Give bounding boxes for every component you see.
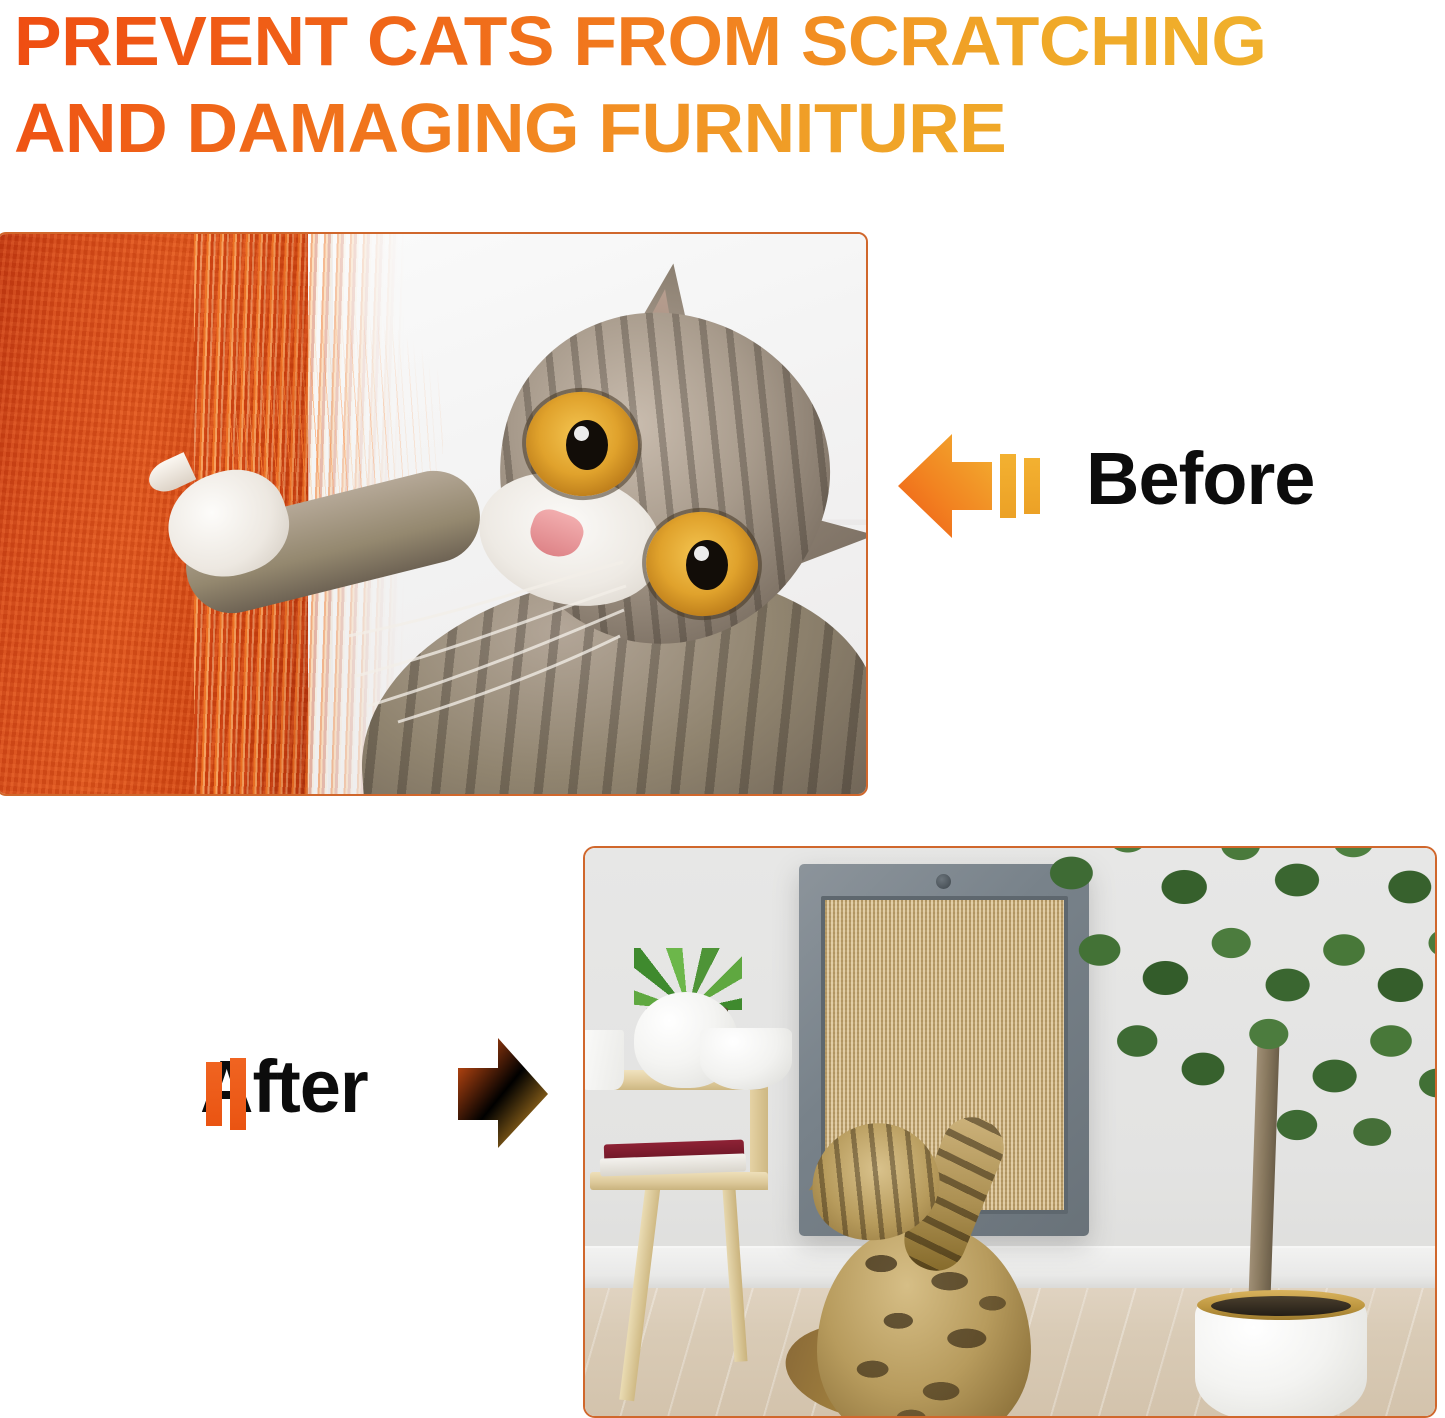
headline-block: PREVENT CATS FROM SCRATCHING AND DAMAGIN… bbox=[0, 0, 1445, 175]
before-photo-inner bbox=[0, 234, 866, 794]
side-table bbox=[590, 1070, 780, 1400]
after-photo bbox=[583, 846, 1437, 1418]
ficus-tree-canopy bbox=[1015, 848, 1435, 1160]
before-callout: Before bbox=[896, 432, 1316, 540]
before-label: Before bbox=[1086, 442, 1314, 516]
cat-eye-glint-lower bbox=[694, 546, 709, 561]
before-photo bbox=[0, 232, 868, 796]
scratching-pad-mount-screw bbox=[936, 874, 951, 889]
after-arrow-icon bbox=[410, 1034, 550, 1152]
after-callout: After bbox=[200, 1036, 560, 1154]
after-label: After bbox=[200, 1050, 368, 1124]
cat-eye-glint-upper bbox=[574, 426, 589, 441]
tabby-cat bbox=[298, 244, 866, 794]
ficus-tree bbox=[1075, 848, 1435, 1416]
after-photo-inner bbox=[585, 848, 1435, 1416]
headline-line-1: PREVENT CATS FROM SCRATCHING bbox=[14, 6, 1266, 76]
ficus-tree-pot-soil bbox=[1211, 1296, 1351, 1316]
white-bowl bbox=[700, 1028, 792, 1090]
side-table-leg-back bbox=[722, 1182, 748, 1362]
before-motion-bar-2 bbox=[1024, 458, 1040, 514]
before-motion-bar-1 bbox=[1000, 454, 1016, 518]
side-table-leg-front bbox=[619, 1181, 661, 1401]
after-motion-bar-2 bbox=[230, 1058, 246, 1130]
cat-whiskers bbox=[338, 544, 628, 724]
headline-line-2: AND DAMAGING FURNITURE bbox=[14, 93, 1006, 163]
white-cup bbox=[585, 1030, 624, 1090]
after-motion-bar-1 bbox=[206, 1062, 222, 1126]
